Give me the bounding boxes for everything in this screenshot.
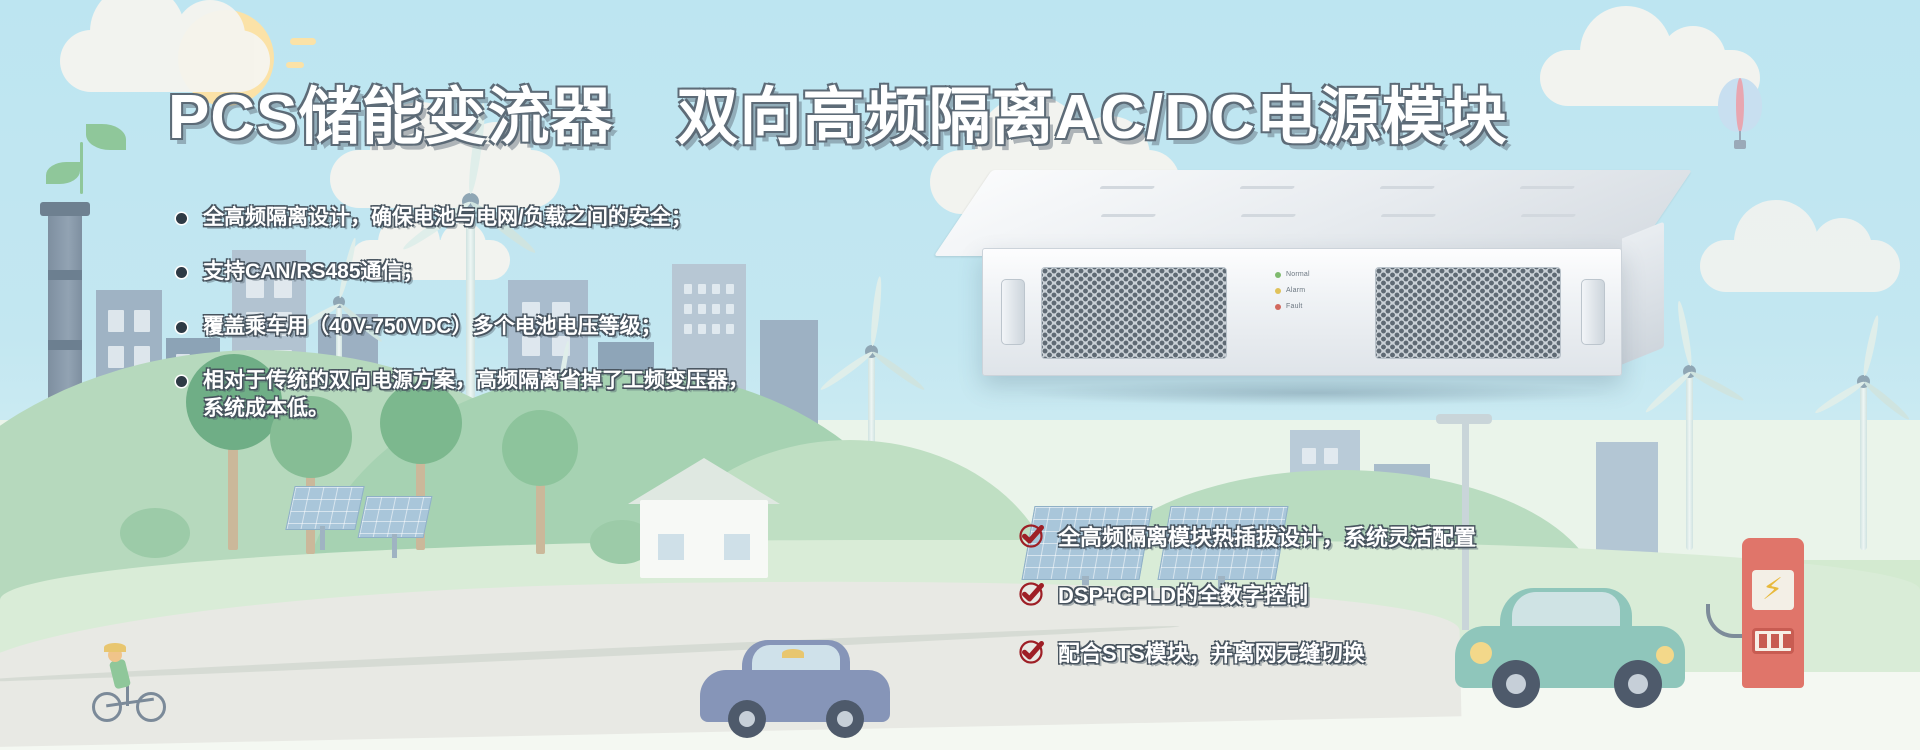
bicycle-frame <box>126 684 129 706</box>
feature-text: 相对于传统的双向电源方案，高频隔离省掉了工频变压器，系统成本低。 <box>203 367 763 424</box>
led-dot-fault <box>1275 304 1281 310</box>
car-wheel <box>728 700 766 738</box>
stem-shape <box>80 142 83 194</box>
product-front-panel: Normal Alarm Fault <box>982 248 1622 376</box>
bullet-dot-icon <box>176 376 187 387</box>
battery-icon <box>1752 628 1794 654</box>
led-dot-alarm <box>1275 288 1281 294</box>
lightning-bolt-icon: ⚡ <box>1762 574 1783 606</box>
bicycle-wheel <box>136 692 166 722</box>
promo-banner: ⚡ Normal Al <box>0 0 1920 750</box>
led-label-normal: Normal <box>1286 271 1310 278</box>
cloud-shape <box>330 150 560 208</box>
wind-turbine-pole <box>1860 380 1867 550</box>
feature-list: 全高频隔离设计，确保电池与电网/负载之间的安全； 支持CAN/RS485通信； … <box>176 204 916 450</box>
product-top-panel <box>934 170 1692 256</box>
led-indicator-row: Fault <box>1275 303 1365 310</box>
building-shape <box>1596 442 1658 560</box>
benefit-item: DSP+CPLD的全数字控制 <box>1018 578 1578 610</box>
house-window <box>722 532 752 562</box>
car-wheel <box>1614 660 1662 708</box>
feature-text: 覆盖乘车用（40V-750VDC）多个电池电压等级； <box>203 313 662 341</box>
page-title: PCS储能变流器 双向高频隔离AC/DC电源模块 <box>168 66 1508 156</box>
solar-panel-leg <box>392 534 397 558</box>
chimney-band <box>48 340 82 350</box>
chimney-cap <box>40 202 90 216</box>
check-circle-icon <box>1018 522 1046 550</box>
benefit-item: 配合STS模块，并离网无缝切换 <box>1018 636 1578 668</box>
bullet-dot-icon <box>176 213 187 224</box>
product-image: Normal Alarm Fault <box>955 170 1695 430</box>
bullet-dot-icon <box>176 267 187 278</box>
solar-panel <box>358 496 433 538</box>
led-indicator-row: Normal <box>1275 271 1365 278</box>
benefit-text: 全高频隔离模块热插拔设计，系统灵活配置 <box>1058 520 1476 552</box>
product-handle-left <box>1001 279 1025 345</box>
benefit-text: DSP+CPLD的全数字控制 <box>1058 578 1308 610</box>
product-side-panel <box>1622 222 1664 365</box>
hot-air-balloon-icon <box>1718 78 1762 132</box>
product-shadow <box>1015 380 1615 406</box>
bullet-dot-icon <box>176 322 187 333</box>
house-window <box>656 532 686 562</box>
driver-hat <box>782 649 804 658</box>
cloud-shape <box>1700 240 1900 292</box>
solar-panel <box>285 486 364 530</box>
led-label-fault: Fault <box>1286 303 1303 310</box>
product-air-vent-left <box>1041 267 1227 359</box>
sun-ray <box>290 38 316 45</box>
bush-shape <box>120 508 190 558</box>
feature-item: 覆盖乘车用（40V-750VDC）多个电池电压等级； <box>176 313 916 341</box>
check-circle-icon <box>1018 638 1046 666</box>
feature-item: 支持CAN/RS485通信； <box>176 258 916 286</box>
cyclist-hat <box>104 643 126 652</box>
feature-item: 相对于传统的双向电源方案，高频隔离省掉了工频变压器，系统成本低。 <box>176 367 916 424</box>
led-indicator-row: Alarm <box>1275 287 1365 294</box>
feature-text: 支持CAN/RS485通信； <box>203 258 424 286</box>
product-led-panel: Normal Alarm Fault <box>1275 271 1365 319</box>
product-air-vent-right <box>1375 267 1561 359</box>
benefit-list: 全高频隔离模块热插拔设计，系统灵活配置 DSP+CPLD的全数字控制 配合STS… <box>1018 520 1578 694</box>
feature-text: 全高频隔离设计，确保电池与电网/负载之间的安全； <box>203 204 692 232</box>
charging-station <box>1742 538 1804 688</box>
car-headlight <box>1656 646 1674 664</box>
car-wheel <box>826 700 864 738</box>
benefit-text: 配合STS模块，并离网无缝切换 <box>1058 636 1365 668</box>
product-handle-right <box>1581 279 1605 345</box>
check-circle-icon <box>1018 580 1046 608</box>
feature-item: 全高频隔离设计，确保电池与电网/负载之间的安全； <box>176 204 916 232</box>
solar-panel-leg <box>320 526 325 550</box>
balloon-basket <box>1734 140 1746 149</box>
chimney-band <box>48 270 82 280</box>
house-roof <box>628 458 780 504</box>
benefit-item: 全高频隔离模块热插拔设计，系统灵活配置 <box>1018 520 1578 552</box>
led-dot-normal <box>1275 272 1281 278</box>
led-label-alarm: Alarm <box>1286 287 1305 294</box>
